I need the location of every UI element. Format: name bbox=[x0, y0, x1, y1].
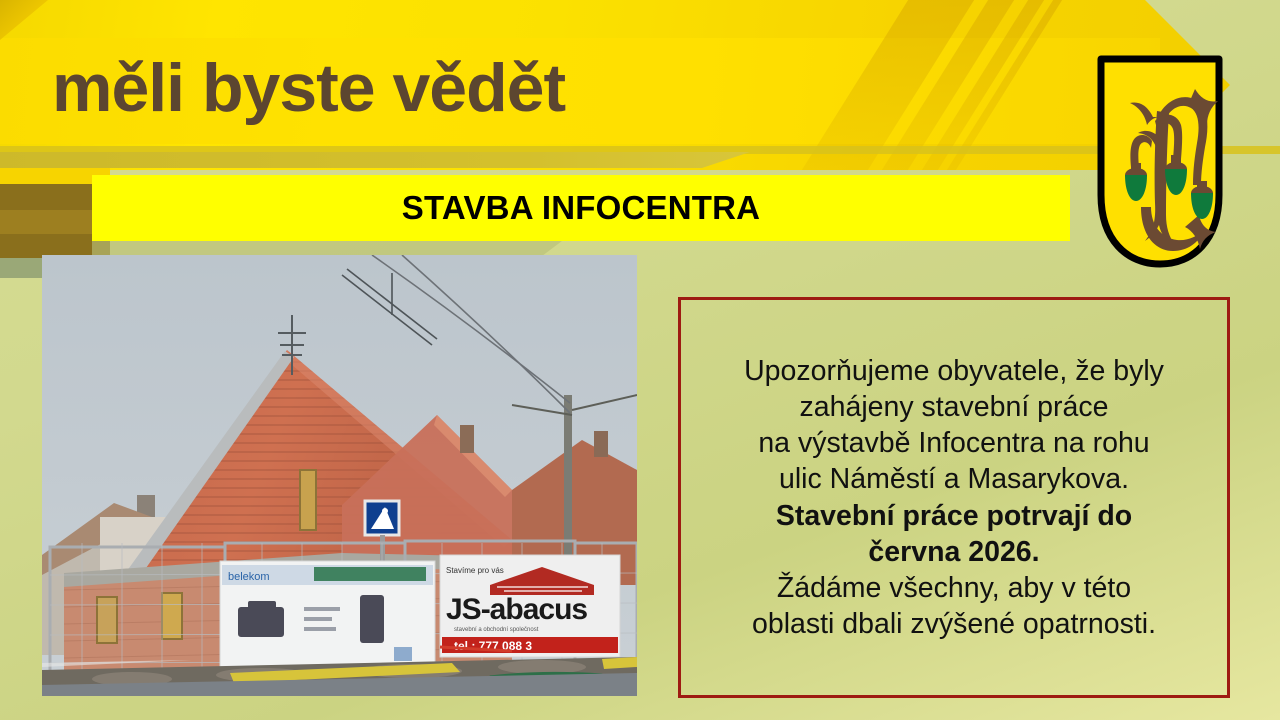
notice-line-1: zahájeny stavební práce bbox=[687, 389, 1221, 425]
subtitle-banner: STAVBA INFOCENTRA bbox=[92, 175, 1070, 241]
notice-box: Upozorňujeme obyvatele, že byly zahájeny… bbox=[678, 297, 1230, 698]
ad-banner-js-abacus: Stavíme pro vás JS-abacus stavební a obc… bbox=[440, 555, 620, 657]
notice-text: Upozorňujeme obyvatele, že byly zahájeny… bbox=[681, 353, 1227, 643]
notice-line-4: Stavební práce potrvají do bbox=[687, 498, 1221, 534]
slide-canvas: měli byste vědět STAVBA INFOCENTRA bbox=[0, 0, 1280, 720]
svg-text:stavební a obchodní společnost: stavební a obchodní společnost bbox=[454, 627, 539, 633]
ad-banner-electronics: belekom bbox=[220, 561, 435, 679]
notice-line-6: Žádáme všechny, aby v této bbox=[687, 570, 1221, 606]
notice-line-2: na výstavbě Infocentra na rohu bbox=[687, 425, 1221, 461]
svg-text:belekom: belekom bbox=[228, 571, 270, 583]
header-underline-wedge bbox=[0, 152, 750, 168]
notice-line-3: ulic Náměstí a Masarykova. bbox=[687, 461, 1221, 497]
notice-line-7: oblasti dbali zvýšené opatrnosti. bbox=[687, 606, 1221, 642]
banner-title: STAVBA INFOCENTRA bbox=[402, 189, 760, 227]
coat-of-arms-emblem bbox=[1097, 55, 1223, 268]
svg-text:Stavíme pro vás: Stavíme pro vás bbox=[446, 566, 504, 575]
construction-site-photo: belekom bbox=[42, 255, 637, 696]
page-title: měli byste vědět bbox=[52, 54, 565, 122]
svg-text:JS-abacus: JS-abacus bbox=[446, 593, 587, 626]
notice-line-5: června 2026. bbox=[687, 534, 1221, 570]
notice-line-0: Upozorňujeme obyvatele, že byly bbox=[687, 353, 1221, 389]
header-band: měli byste vědět bbox=[0, 0, 1280, 170]
